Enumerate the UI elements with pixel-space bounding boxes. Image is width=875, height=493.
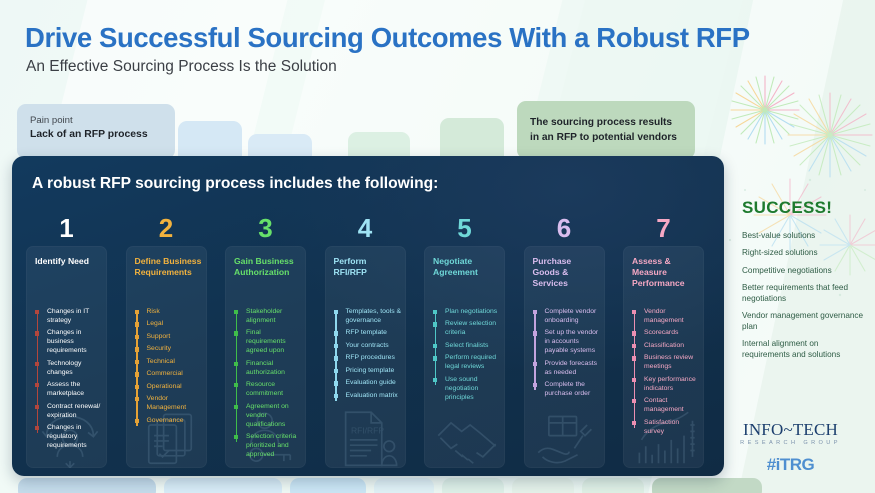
bullet-text: Security bbox=[147, 345, 203, 354]
bullet-item: RFP template bbox=[334, 329, 402, 338]
success-item: Competitive negotiations bbox=[742, 266, 868, 277]
bullet-text: Complete the purchase order bbox=[545, 381, 601, 399]
bullet-item: Satisfaction survey bbox=[632, 419, 700, 437]
bullet-marker bbox=[234, 383, 238, 387]
bullet-item: Templates, tools & governance bbox=[334, 308, 402, 326]
bullet-marker bbox=[533, 362, 537, 366]
step-number: 3 bbox=[225, 214, 306, 244]
bullet-item: Support bbox=[135, 333, 203, 342]
bullet-text: Financial authorization bbox=[246, 360, 302, 378]
bullet-marker bbox=[334, 310, 338, 314]
bullet-item: Final requirements agreed upon bbox=[234, 329, 302, 356]
bullet-text: Evaluation matrix bbox=[346, 392, 402, 401]
bullet-marker bbox=[35, 405, 39, 409]
bullet-text: Pricing template bbox=[346, 367, 402, 376]
bullet-marker bbox=[334, 331, 338, 335]
bullet-marker bbox=[632, 331, 636, 335]
success-item: Internal alignment on requirements and s… bbox=[742, 339, 868, 361]
step-number: 1 bbox=[26, 214, 107, 244]
pain-point-label: Pain point bbox=[30, 114, 162, 128]
bullet-item: Evaluation matrix bbox=[334, 392, 402, 401]
bullet-marker bbox=[234, 435, 238, 439]
success-item: Vendor management governance plan bbox=[742, 311, 868, 333]
bullet-marker bbox=[334, 356, 338, 360]
bullet-text: Satisfaction survey bbox=[644, 419, 700, 437]
bullet-item: Changes in business requirements bbox=[35, 329, 103, 356]
bullet-marker bbox=[135, 397, 139, 401]
bullet-item: Selection criteria prioritized and appro… bbox=[234, 433, 302, 460]
bullet-item: Contact management bbox=[632, 397, 700, 415]
bullet-item: Use sound negotiation principles bbox=[433, 376, 501, 403]
process-column-2: 2Define Business RequirementsRiskLegalSu… bbox=[126, 214, 207, 468]
bullet-marker bbox=[632, 399, 636, 403]
process-column-3: 3Gain Business AuthorizationStakeholder … bbox=[225, 214, 306, 468]
step-card-7[interactable]: Assess & Measure PerformanceVendor manag… bbox=[623, 246, 704, 468]
result-callout: The sourcing process results in an RFP t… bbox=[517, 101, 695, 159]
process-column-4: 4Perform RFI/RFPRFI/RFPTemplates, tools … bbox=[325, 214, 406, 468]
step-bullet-list: RiskLegalSupportSecurityTechnicalCommerc… bbox=[135, 308, 203, 429]
step-number: 7 bbox=[623, 214, 704, 244]
page-title: Drive Successful Sourcing Outcomes With … bbox=[25, 22, 750, 54]
bullet-marker bbox=[135, 360, 139, 364]
bullet-text: Final requirements agreed upon bbox=[246, 329, 302, 356]
bottom-step-card bbox=[164, 478, 282, 493]
bullet-item: Your contracts bbox=[334, 342, 402, 351]
bullet-text: Changes in regulatory requirements bbox=[47, 424, 103, 451]
bottom-step-card bbox=[652, 478, 762, 493]
bullet-marker bbox=[234, 362, 238, 366]
company-logo: INFO~TECH bbox=[713, 420, 868, 440]
step-bullet-list: Templates, tools & governanceRFP templat… bbox=[334, 308, 402, 404]
bottom-step-card bbox=[374, 478, 434, 493]
bullet-marker bbox=[334, 369, 338, 373]
bullet-text: Changes in business requirements bbox=[47, 329, 103, 356]
bullet-text: Set up the vendor in accounts payable sy… bbox=[545, 329, 601, 356]
bullet-marker bbox=[234, 405, 238, 409]
success-item: Best-value solutions bbox=[742, 231, 868, 242]
step-title: Define Business Requirements bbox=[135, 256, 202, 278]
bottom-step-card bbox=[290, 478, 366, 493]
bullet-marker bbox=[234, 310, 238, 314]
bullet-marker bbox=[433, 310, 437, 314]
bullet-marker bbox=[632, 421, 636, 425]
process-column-7: 7Assess & Measure PerformanceVendor mana… bbox=[623, 214, 704, 468]
bullet-marker bbox=[135, 335, 139, 339]
process-panel: A robust RFP sourcing process includes t… bbox=[12, 156, 724, 476]
bullet-marker bbox=[433, 356, 437, 360]
bullet-text: Select finalists bbox=[445, 342, 501, 351]
bullet-item: Commercial bbox=[135, 370, 203, 379]
bullet-text: Use sound negotiation principles bbox=[445, 376, 501, 403]
bullet-marker bbox=[334, 394, 338, 398]
bullet-item: Review selection criteria bbox=[433, 320, 501, 338]
step-card-1[interactable]: Identify NeedChanges in IT strategyChang… bbox=[26, 246, 107, 468]
bullet-marker bbox=[135, 419, 139, 423]
bullet-marker bbox=[433, 344, 437, 348]
bullet-text: Risk bbox=[147, 308, 203, 317]
bullet-text: Technical bbox=[147, 358, 203, 367]
bullet-text: RFP procedures bbox=[346, 354, 402, 363]
step-bullet-list: Plan negotiationsReview selection criter… bbox=[433, 308, 501, 406]
bullet-marker bbox=[35, 362, 39, 366]
process-column-5: 5Negotiate AgreementPlan negotiationsRev… bbox=[424, 214, 505, 468]
step-card-2[interactable]: Define Business RequirementsRiskLegalSup… bbox=[126, 246, 207, 468]
bullet-text: Technology changes bbox=[47, 360, 103, 378]
bullet-text: Scorecards bbox=[644, 329, 700, 338]
success-item: Better requirements that feed negotiatio… bbox=[742, 283, 868, 305]
bullet-item: Operational bbox=[135, 383, 203, 392]
bullet-item: Key performance indicators bbox=[632, 376, 700, 394]
step-title: Negotiate Agreement bbox=[433, 256, 500, 278]
handshake-icon bbox=[434, 408, 502, 466]
bullet-marker bbox=[135, 322, 139, 326]
step-title: Identify Need bbox=[35, 256, 102, 267]
bullet-marker bbox=[533, 310, 537, 314]
bullet-item: Classification bbox=[632, 342, 700, 351]
success-list: Best-value solutionsRight-sized solution… bbox=[742, 231, 868, 367]
process-column-6: 6Purchase Goods & ServicesComplete vendo… bbox=[524, 214, 605, 468]
step-card-4[interactable]: Perform RFI/RFPRFI/RFPTemplates, tools &… bbox=[325, 246, 406, 468]
bullet-text: Your contracts bbox=[346, 342, 402, 351]
bullet-marker bbox=[433, 322, 437, 326]
bullet-item: Security bbox=[135, 345, 203, 354]
bullet-item: Agreement on vendor qualifications bbox=[234, 403, 302, 430]
step-bullet-list: Changes in IT strategyChanges in busines… bbox=[35, 308, 103, 455]
step-number: 6 bbox=[524, 214, 605, 244]
bottom-step-card bbox=[18, 478, 156, 493]
bullet-item: Resource commitment bbox=[234, 381, 302, 399]
bullet-text: RFP template bbox=[346, 329, 402, 338]
bullet-text: Operational bbox=[147, 383, 203, 392]
rfi-rfp-document-person-icon: RFI/RFP bbox=[335, 408, 403, 466]
result-line-1: The sourcing process results bbox=[530, 115, 682, 130]
bullet-marker bbox=[35, 331, 39, 335]
bullet-text: Evaluation guide bbox=[346, 379, 402, 388]
bullet-text: Governance bbox=[147, 417, 203, 426]
step-number: 2 bbox=[126, 214, 207, 244]
bullet-text: Key performance indicators bbox=[644, 376, 700, 394]
bottom-step-card bbox=[442, 478, 504, 493]
bullet-text: Contract renewal/ expiration bbox=[47, 403, 103, 421]
bullet-marker bbox=[334, 381, 338, 385]
success-item: Right-sized solutions bbox=[742, 248, 868, 259]
svg-text:RFI/RFP: RFI/RFP bbox=[350, 426, 383, 436]
bullet-text: Commercial bbox=[147, 370, 203, 379]
bottom-step-card bbox=[582, 478, 644, 493]
bullet-item: Perform required legal reviews bbox=[433, 354, 501, 372]
bullet-marker bbox=[533, 383, 537, 387]
bullet-text: Business review meetings bbox=[644, 354, 700, 372]
bullet-item: Evaluation guide bbox=[334, 379, 402, 388]
bullet-text: Templates, tools & governance bbox=[346, 308, 402, 326]
bullet-text: Contact management bbox=[644, 397, 700, 415]
bullet-item: Set up the vendor in accounts payable sy… bbox=[533, 329, 601, 356]
result-line-2: in an RFP to potential vendors bbox=[530, 130, 682, 145]
bullet-marker bbox=[632, 310, 636, 314]
bullet-text: Vendor management bbox=[644, 308, 700, 326]
panel-heading: A robust RFP sourcing process includes t… bbox=[32, 175, 438, 193]
step-title: Assess & Measure Performance bbox=[632, 256, 699, 289]
step-card-6[interactable]: Purchase Goods & ServicesComplete vendor… bbox=[524, 246, 605, 468]
bullet-text: Classification bbox=[644, 342, 700, 351]
bullet-item: Financial authorization bbox=[234, 360, 302, 378]
step-title: Gain Business Authorization bbox=[234, 256, 301, 278]
bullet-marker bbox=[234, 331, 238, 335]
bullet-marker bbox=[35, 383, 39, 387]
bullet-text: Legal bbox=[147, 320, 203, 329]
bullet-text: Plan negotiations bbox=[445, 308, 501, 317]
bullet-text: Assess the marketplace bbox=[47, 381, 103, 399]
bullet-item: Complete the purchase order bbox=[533, 381, 601, 399]
bullet-marker bbox=[135, 372, 139, 376]
bullet-text: Vendor Management bbox=[147, 395, 203, 413]
bullet-item: Contract renewal/ expiration bbox=[35, 403, 103, 421]
bullet-text: Provide forecasts as needed bbox=[545, 360, 601, 378]
process-column-1: 1Identify NeedChanges in IT strategyChan… bbox=[26, 214, 107, 468]
bullet-marker bbox=[632, 356, 636, 360]
step-bullet-list: Stakeholder alignmentFinal requirements … bbox=[234, 308, 302, 464]
bullet-item: Scorecards bbox=[632, 329, 700, 338]
step-card-3[interactable]: Gain Business AuthorizationStakeholder a… bbox=[225, 246, 306, 468]
bullet-text: Complete vendor onboarding bbox=[545, 308, 601, 326]
bullet-item: Technical bbox=[135, 358, 203, 367]
bullet-marker bbox=[35, 310, 39, 314]
company-logo-subtitle: RESEARCH GROUP bbox=[713, 440, 868, 446]
bullet-item: Plan negotiations bbox=[433, 308, 501, 317]
bullet-marker bbox=[135, 347, 139, 351]
bullet-marker bbox=[632, 378, 636, 382]
bullet-item: Provide forecasts as needed bbox=[533, 360, 601, 378]
bullet-marker bbox=[334, 344, 338, 348]
success-title: SUCCESS! bbox=[742, 198, 832, 218]
bullet-item: Risk bbox=[135, 308, 203, 317]
step-bullet-list: Vendor managementScorecardsClassificatio… bbox=[632, 308, 700, 440]
bullet-item: Pricing template bbox=[334, 367, 402, 376]
infographic-canvas: Drive Successful Sourcing Outcomes With … bbox=[0, 0, 875, 493]
bullet-item: Legal bbox=[135, 320, 203, 329]
bullet-item: Vendor Management bbox=[135, 395, 203, 413]
bullet-text: Stakeholder alignment bbox=[246, 308, 302, 326]
bullet-item: Stakeholder alignment bbox=[234, 308, 302, 326]
bullet-text: Selection criteria prioritized and appro… bbox=[246, 433, 302, 460]
bullet-marker bbox=[35, 426, 39, 430]
step-number: 5 bbox=[424, 214, 505, 244]
pain-point-value: Lack of an RFP process bbox=[30, 128, 162, 143]
step-title: Perform RFI/RFP bbox=[334, 256, 401, 278]
bullet-text: Agreement on vendor qualifications bbox=[246, 403, 302, 430]
bullet-item: Vendor management bbox=[632, 308, 700, 326]
bullet-text: Changes in IT strategy bbox=[47, 308, 103, 326]
step-title: Purchase Goods & Services bbox=[533, 256, 600, 289]
pain-point-callout: Pain point Lack of an RFP process bbox=[17, 104, 175, 159]
bullet-marker bbox=[433, 378, 437, 382]
step-bullet-list: Complete vendor onboardingSet up the ven… bbox=[533, 308, 601, 403]
step-number: 4 bbox=[325, 214, 406, 244]
bullet-marker bbox=[135, 385, 139, 389]
step-card-5[interactable]: Negotiate AgreementPlan negotiationsRevi… bbox=[424, 246, 505, 468]
bullet-item: Complete vendor onboarding bbox=[533, 308, 601, 326]
box-wrench-hand-icon bbox=[534, 408, 602, 466]
process-columns: 1Identify NeedChanges in IT strategyChan… bbox=[26, 214, 724, 464]
bullet-marker bbox=[533, 331, 537, 335]
itrg-logo: #iTRG bbox=[713, 455, 868, 475]
bullet-item: Governance bbox=[135, 417, 203, 426]
bullet-text: Support bbox=[147, 333, 203, 342]
bullet-item: Business review meetings bbox=[632, 354, 700, 372]
bullet-marker bbox=[135, 310, 139, 314]
bullet-item: Changes in IT strategy bbox=[35, 308, 103, 326]
bullet-text: Resource commitment bbox=[246, 381, 302, 399]
bullet-text: Review selection criteria bbox=[445, 320, 501, 338]
page-subtitle: An Effective Sourcing Process Is the Sol… bbox=[26, 58, 337, 76]
bullet-item: Select finalists bbox=[433, 342, 501, 351]
bottom-step-card bbox=[512, 478, 574, 493]
bullet-item: Technology changes bbox=[35, 360, 103, 378]
bullet-item: Assess the marketplace bbox=[35, 381, 103, 399]
bullet-marker bbox=[632, 344, 636, 348]
bullet-item: RFP procedures bbox=[334, 354, 402, 363]
bullet-text: Perform required legal reviews bbox=[445, 354, 501, 372]
bullet-item: Changes in regulatory requirements bbox=[35, 424, 103, 451]
